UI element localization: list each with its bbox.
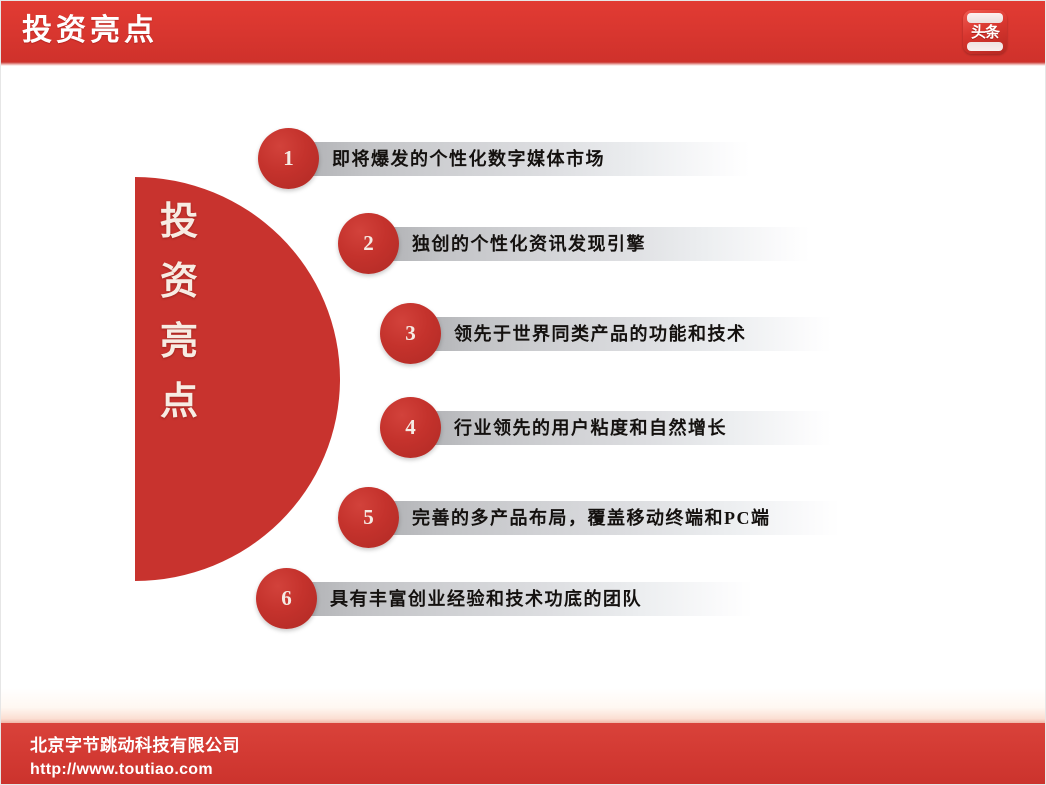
- highlight-item-text: 领先于世界同类产品的功能和技术: [454, 321, 747, 347]
- highlight-item-text: 行业领先的用户粘度和自然增长: [454, 415, 727, 441]
- logo-top-strip: [967, 13, 1003, 23]
- highlight-item-number: 6: [256, 568, 317, 629]
- toutiao-logo-icon: 头条: [963, 10, 1007, 54]
- highlights-vertical-label: 投 资 亮 点: [148, 192, 210, 432]
- highlight-item-number: 2: [338, 213, 399, 274]
- semi-label-char-1: 投: [148, 192, 210, 252]
- logo-wordmark: 头条: [963, 23, 1007, 42]
- presentation-slide: 投资亮点 头条 投 资 亮 点 1即将爆发的个性化数字媒体市场2独创的个性化资讯…: [0, 0, 1046, 785]
- highlight-item-number: 1: [258, 128, 319, 189]
- slide-footer: 北京字节跳动科技有限公司 http://www.toutiao.com: [0, 723, 1046, 785]
- footer-fade: [0, 688, 1046, 723]
- highlight-item-number: 3: [380, 303, 441, 364]
- highlight-item-text: 具有丰富创业经验和技术功底的团队: [330, 586, 642, 612]
- semi-label-char-2: 资: [148, 252, 210, 312]
- footer-url[interactable]: http://www.toutiao.com: [30, 759, 213, 781]
- page-title: 投资亮点: [22, 11, 158, 51]
- semi-label-char-3: 亮: [148, 312, 210, 372]
- highlight-item-number: 5: [338, 487, 399, 548]
- footer-company-name: 北京字节跳动科技有限公司: [30, 734, 240, 758]
- highlight-item-text: 独创的个性化资讯发现引擎: [412, 231, 646, 257]
- highlight-item-text: 完善的多产品布局，覆盖移动终端和PC端: [412, 505, 771, 531]
- semi-label-char-4: 点: [148, 372, 210, 432]
- logo-bottom-strip: [967, 42, 1003, 51]
- highlight-item-number: 4: [380, 397, 441, 458]
- header-underline: [0, 62, 1046, 66]
- highlight-item-text: 即将爆发的个性化数字媒体市场: [332, 146, 605, 172]
